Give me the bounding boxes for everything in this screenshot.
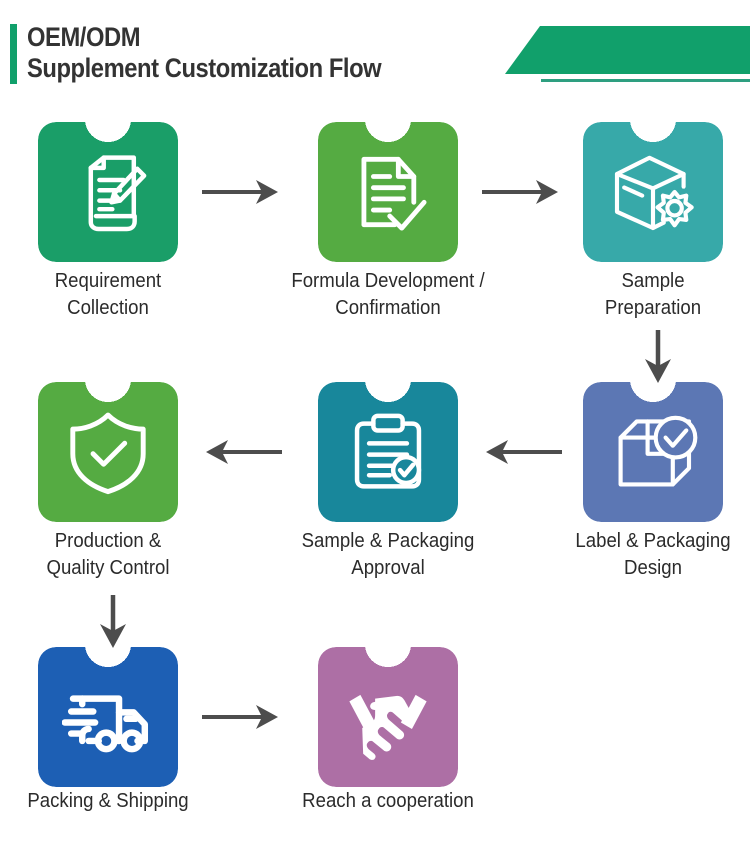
page-header: OEM/ODM Supplement Customization Flow	[0, 0, 750, 105]
step-tile-sample-preparation[interactable]	[583, 122, 723, 262]
label-line-2: Approval	[290, 555, 485, 582]
label-line-2: Collection	[10, 295, 205, 322]
label-line-1: Sample & Packaging	[290, 528, 485, 555]
step-tile-sample-packaging-approval[interactable]	[318, 382, 458, 522]
step-tile-reach-a-cooperation[interactable]	[318, 647, 458, 787]
label-line-2: Preparation	[555, 295, 750, 322]
page-title-line2: Supplement Customization Flow	[27, 53, 485, 84]
step-label-sample-packaging-approval: Sample & Packaging Approval	[290, 528, 485, 582]
label-line-1: Formula Development /	[290, 268, 485, 295]
step-tile-formula-development[interactable]	[318, 122, 458, 262]
handshake-icon	[342, 671, 434, 763]
step-tile-requirement-collection[interactable]	[38, 122, 178, 262]
step-label-formula-development: Formula Development / Confirmation	[290, 268, 485, 322]
step-label-requirement-collection: Requirement Collection	[10, 268, 205, 322]
box-check-circle-icon	[608, 407, 698, 497]
page-title-line1: OEM/ODM	[27, 22, 485, 53]
box-gear-icon	[608, 147, 698, 237]
label-line-2: Design	[555, 555, 750, 582]
label-line-2: Confirmation	[290, 295, 485, 322]
page-title: OEM/ODM Supplement Customization Flow	[27, 22, 547, 84]
step-tile-label-packaging-design[interactable]	[583, 382, 723, 522]
arrow-shipping-to-cooperation	[200, 697, 284, 742]
arrow-requirement-to-formula	[200, 172, 284, 217]
arrow-label-design-to-approval	[480, 432, 564, 477]
step-label-packing-shipping: Packing & Shipping	[10, 788, 205, 815]
label-line-1: Production &	[10, 528, 205, 555]
step-tile-packing-shipping[interactable]	[38, 647, 178, 787]
label-line-1: Packing & Shipping	[10, 788, 205, 815]
step-label-reach-a-cooperation: Reach a cooperation	[290, 788, 485, 815]
shield-check-icon	[64, 408, 152, 496]
label-line-1: Reach a cooperation	[290, 788, 485, 815]
clipboard-check-icon	[345, 409, 431, 495]
delivery-truck-icon	[62, 671, 154, 763]
document-pencil-icon	[65, 149, 151, 235]
step-label-sample-preparation: Sample Preparation	[555, 268, 750, 322]
label-line-1: Label & Packaging	[555, 528, 750, 555]
step-tile-production-quality-control[interactable]	[38, 382, 178, 522]
arrow-approval-to-production	[200, 432, 284, 477]
label-line-1: Requirement	[10, 268, 205, 295]
header-banner-shape	[505, 26, 750, 74]
header-banner-underline	[541, 79, 750, 82]
flowchart-page: OEM/ODM Supplement Customization Flow Re…	[0, 0, 750, 850]
header-accent-bar	[10, 24, 17, 84]
step-label-label-packaging-design: Label & Packaging Design	[555, 528, 750, 582]
step-label-production-quality-control: Production & Quality Control	[10, 528, 205, 582]
label-line-1: Sample	[555, 268, 750, 295]
label-line-2: Quality Control	[10, 555, 205, 582]
document-check-icon	[345, 149, 431, 235]
arrow-formula-to-sample-preparation	[480, 172, 564, 217]
